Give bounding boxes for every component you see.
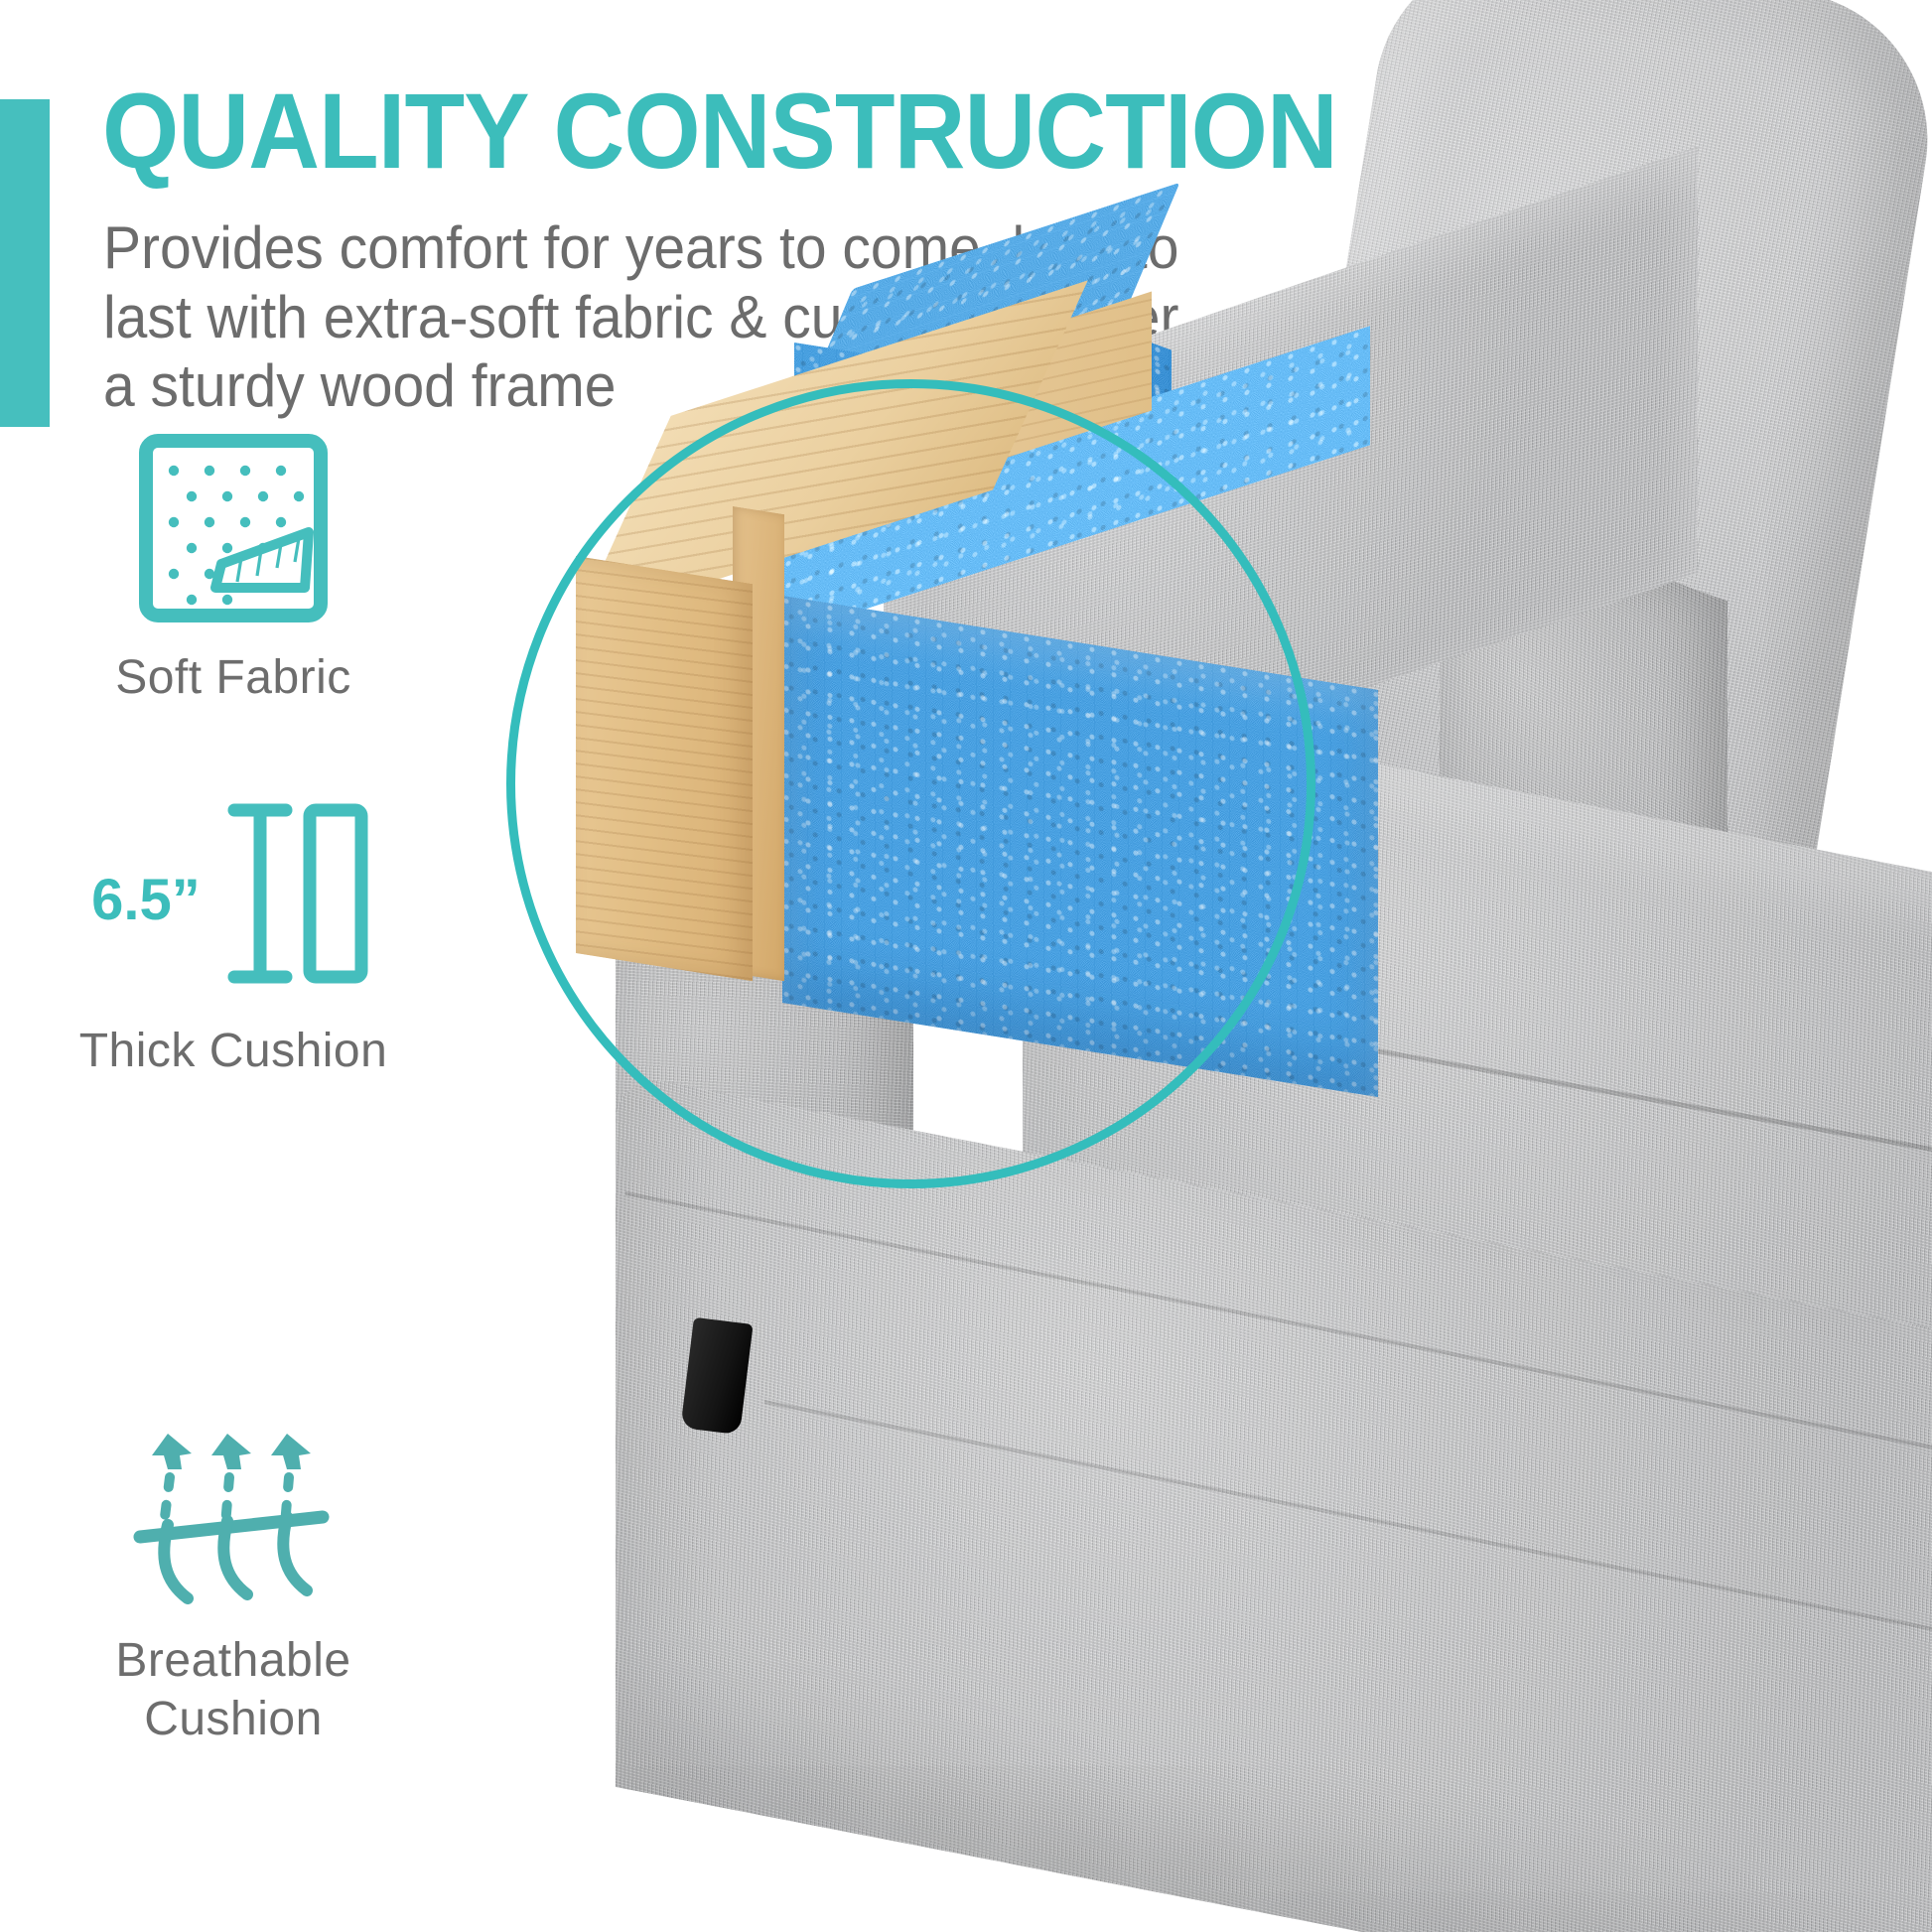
feature-label-soft-fabric: Soft Fabric bbox=[0, 649, 467, 708]
arm-cutaway-detail bbox=[467, 0, 1932, 1932]
fabric-swatch-icon bbox=[0, 429, 467, 627]
feature-label-breathable-cushion: Breathable Cushion bbox=[0, 1632, 467, 1748]
cushion-thickness-icon: 6.5” bbox=[0, 794, 467, 993]
feature-thick-cushion: 6.5” Thick Cushion bbox=[0, 794, 467, 1081]
feature-soft-fabric: Soft Fabric bbox=[0, 429, 467, 708]
cushion-thickness-value: 6.5” bbox=[91, 867, 201, 933]
feature-label-line-1: Breathable bbox=[0, 1632, 467, 1691]
feature-label-thick-cushion: Thick Cushion bbox=[0, 1023, 467, 1081]
wood-frame-end-grain bbox=[576, 556, 753, 981]
foam-cushion-front-face bbox=[782, 596, 1378, 1097]
feature-breathable-cushion: Breathable Cushion bbox=[0, 1410, 467, 1748]
feature-label-line-2: Cushion bbox=[0, 1691, 467, 1749]
product-photo bbox=[467, 0, 1932, 1932]
breathable-airflow-icon bbox=[0, 1410, 467, 1608]
header-accent-bar bbox=[0, 99, 50, 427]
